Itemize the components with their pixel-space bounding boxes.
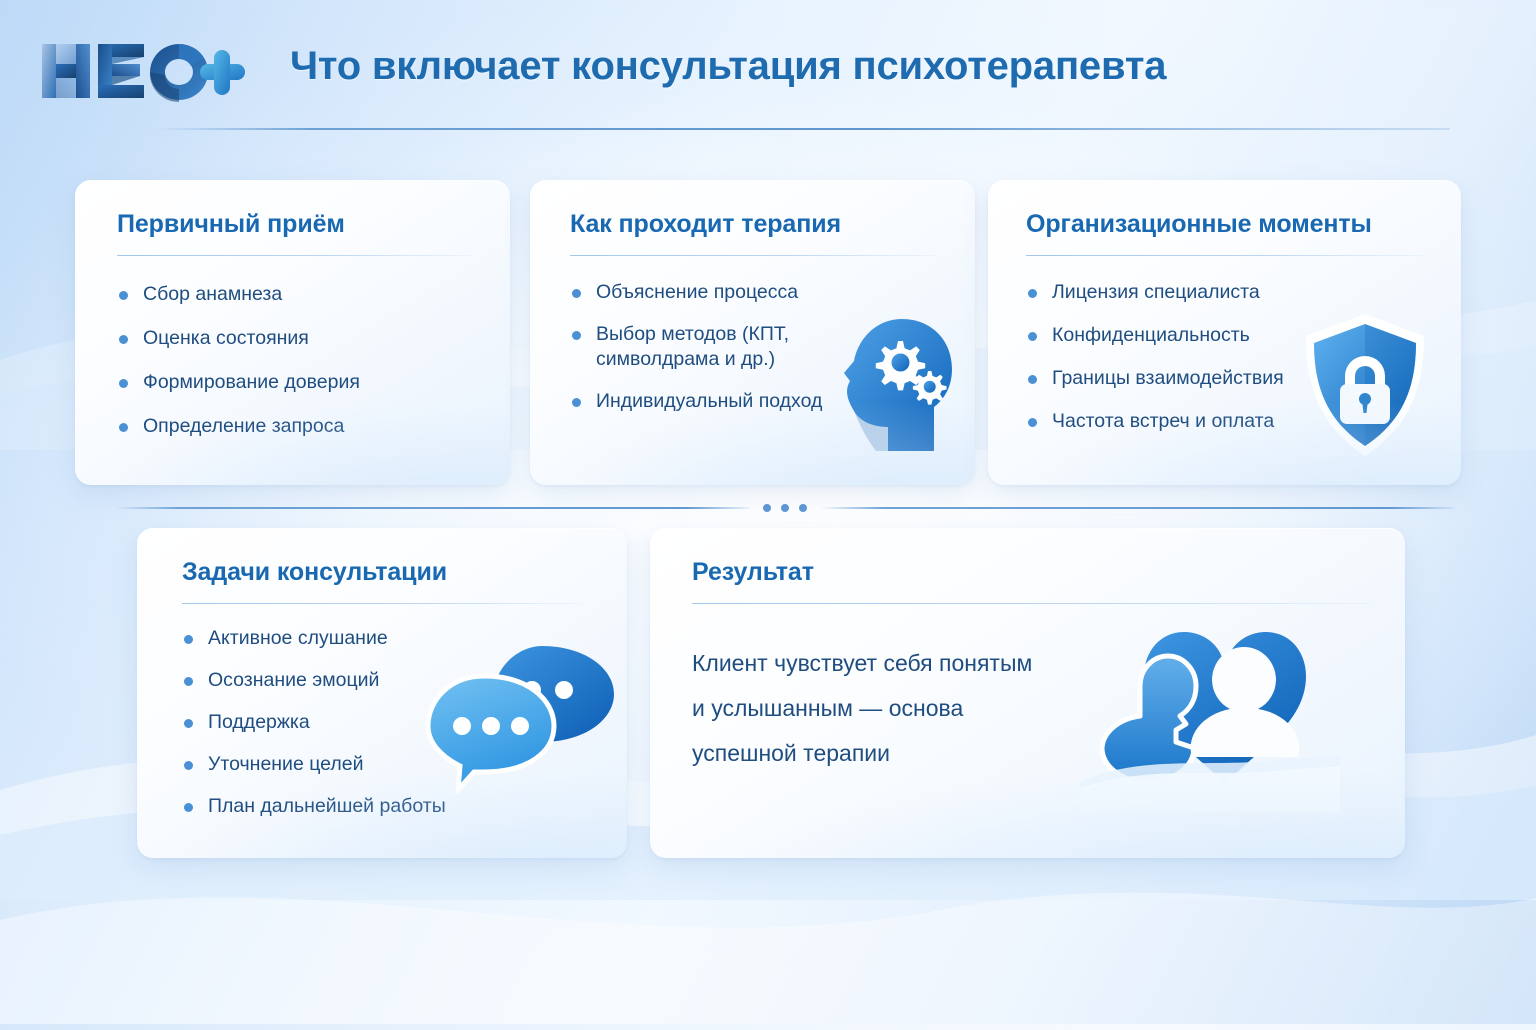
section-divider [115,500,1455,516]
list-item: Сбор анамнеза [117,282,447,307]
card-consultation-tasks[interactable]: Задачи консультации Активное слушание Ос… [137,528,627,858]
page-header: Что включает консультация психотерапевта [40,36,1440,136]
card-title-divider [117,255,472,256]
card-title-divider [182,603,582,604]
card-title-divider [1026,255,1426,256]
card-title: Первичный приём [117,210,345,239]
card-bullet-list: Активное слушание Осознание эмоций Подде… [182,626,512,819]
background-wave-bottom [0,840,1536,1030]
result-body-text: Клиент чувствует себя понятым и услышанн… [692,641,1122,776]
card-primary-intake[interactable]: Первичный приём Сбор анамнеза Оценка сос… [75,180,510,485]
card-bullet-list: Объяснение процесса Выбор методов (КПТ, … [570,280,860,414]
card-title: Задачи консультации [182,558,447,587]
card-title-divider [570,255,935,256]
list-item: Оценка состояния [117,326,447,351]
page-title: Что включает консультация психотерапевта [290,44,1166,89]
divider-dot [799,504,807,512]
card-bullet-list: Лицензия специалиста Конфиденциальность … [1026,280,1346,434]
card-therapy-process[interactable]: Как проходит терапия Объяснение процесса… [530,180,975,485]
list-item: Конфиденциальность [1026,323,1346,348]
list-item: Уточнение целей [182,752,512,777]
list-item: Осознание эмоций [182,668,512,693]
list-item: Индивидуальный подход [570,389,860,414]
divider-line-right [820,507,1455,509]
list-item: План дальнейшей работы [182,794,512,819]
card-organizational[interactable]: Организационные моменты Лицензия специал… [988,180,1461,485]
list-item: Частота встреч и оплата [1026,409,1346,434]
divider-dot [763,504,771,512]
divider-dot [781,504,789,512]
list-item: Поддержка [182,710,512,735]
header-divider [155,128,1450,130]
list-item: Границы взаимодействия [1026,366,1346,391]
list-item: Выбор методов (КПТ, символдрама и др.) [570,322,860,372]
list-item: Формирование доверия [117,370,447,395]
card-title: Как проходит терапия [570,210,841,239]
divider-line-left [115,507,750,509]
list-item: Лицензия специалиста [1026,280,1346,305]
card-result[interactable]: Результат Клиент чувствует себя понятым … [650,528,1405,858]
infographic-page: Что включает консультация психотерапевта… [0,0,1536,1024]
list-item: Активное слушание [182,626,512,651]
card-title: Результат [692,558,814,587]
list-item: Объяснение процесса [570,280,860,305]
list-item: Определение запроса [117,414,447,439]
neo-plus-logo [40,40,245,102]
card-title-divider [692,603,1372,604]
card-title: Организационные моменты [1026,210,1372,239]
card-bullet-list: Сбор анамнеза Оценка состояния Формирова… [117,282,447,439]
